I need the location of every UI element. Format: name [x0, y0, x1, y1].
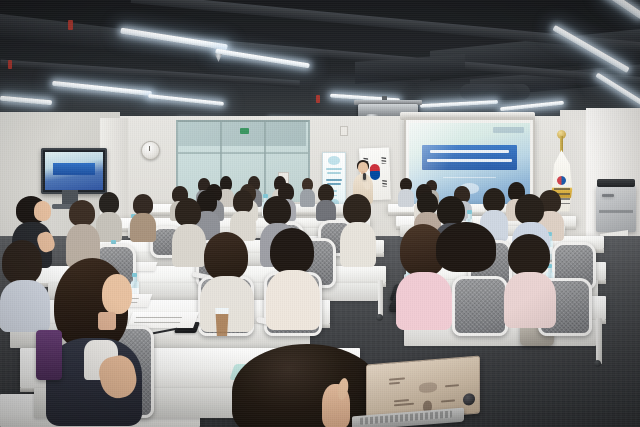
exit-sign-icon — [240, 128, 249, 134]
attendee — [316, 184, 336, 220]
handbag — [36, 330, 62, 380]
attendee — [0, 240, 50, 330]
ceiling-marker — [316, 95, 320, 103]
attendee-hand — [322, 384, 356, 427]
attendee — [398, 178, 414, 206]
taeguk-icon — [557, 176, 566, 185]
seminar-room-photo: Seminar room lecture session Attendees s… — [0, 0, 640, 427]
chair-caster — [376, 314, 383, 321]
attendee-head — [102, 274, 132, 314]
attendee — [300, 178, 315, 206]
attendee — [266, 228, 320, 328]
office-chair — [452, 276, 508, 336]
attendee — [130, 194, 156, 240]
chair-caster — [594, 360, 601, 367]
microphone-icon — [363, 173, 366, 180]
attendee — [66, 200, 100, 266]
ceiling-marker — [68, 20, 73, 30]
wall-panel — [340, 126, 348, 136]
attendee — [504, 234, 556, 326]
ceiling-light — [0, 96, 52, 106]
ceiling-light — [500, 101, 564, 112]
ceiling-light — [602, 0, 640, 19]
wall-clock-icon — [141, 141, 160, 160]
ceiling-marker — [8, 60, 12, 69]
ceiling-light — [420, 100, 498, 108]
office-printer — [596, 186, 636, 232]
wall-display — [41, 148, 107, 194]
laptop — [352, 360, 480, 427]
attendee-back-of-head — [436, 222, 496, 270]
attendee — [340, 194, 376, 266]
laptop-sticker — [463, 393, 475, 406]
ceiling-light — [148, 94, 224, 106]
flag-pole — [560, 136, 563, 152]
ceiling-light — [52, 81, 152, 96]
table-leg — [378, 280, 383, 316]
table-leg — [596, 318, 602, 364]
